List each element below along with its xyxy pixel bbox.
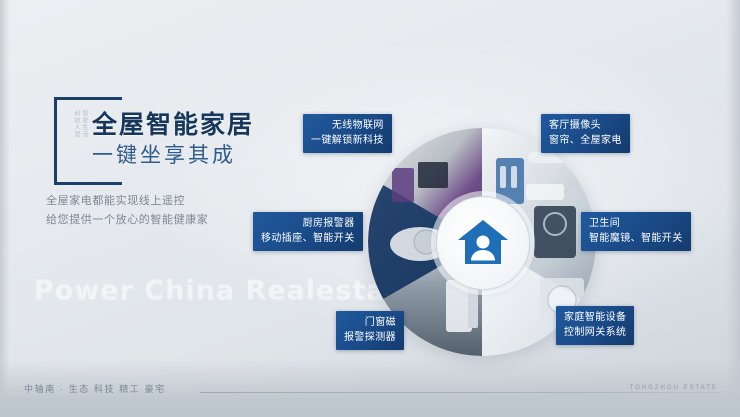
label-bathroom[interactable]: 卫生间 智能魔镜、智能开关 [581, 212, 691, 251]
label-door-window[interactable]: 门窗磁 报警探测器 [336, 311, 404, 350]
vertical-seal-text: 智能生活 科技人居 [72, 110, 88, 138]
page-title: 全屋智能家居 [92, 105, 254, 141]
label-kitchen-alarm-line2: 移动插座、智能开关 [261, 231, 355, 246]
label-wireless-iot-line1: 无线物联网 [311, 118, 384, 133]
home-user-icon [456, 218, 510, 268]
left-edge-shade [0, 0, 10, 417]
label-wireless-iot-line2: 一键解锁新科技 [311, 133, 384, 148]
description-line-2: 给您提供一个放心的智能健康家 [46, 211, 208, 230]
label-bathroom-line2: 智能魔镜、智能开关 [589, 231, 683, 246]
label-smart-gateway[interactable]: 家庭智能设备 控制网关系统 [556, 306, 634, 345]
watermark-text: Power China Realestate [34, 276, 419, 305]
right-edge-shade [726, 0, 740, 417]
remote-prop [526, 184, 564, 200]
footer-divider [200, 392, 720, 393]
hub-circle [436, 196, 530, 290]
slide-canvas: Power China Realestate 智能生活 科技人居 全屋智能家居 … [0, 0, 740, 417]
label-kitchen-alarm-line1: 厨房报警器 [261, 216, 355, 231]
label-smart-gateway-line2: 控制网关系统 [564, 325, 626, 340]
panel-prop [418, 162, 448, 188]
label-door-window-line1: 门窗磁 [344, 315, 396, 330]
label-bathroom-line1: 卫生间 [589, 216, 683, 231]
footer-brand-mark: TONGZHOU ESTATE [630, 385, 718, 391]
footer-tagline: 中轴南 · 生态 科技 精工 豪宅 [24, 382, 166, 395]
label-living-room[interactable]: 客厅摄像头 窗帘、全屋家电 [541, 114, 630, 153]
description-block: 全屋家电都能实现线上遥控 给您提供一个放心的智能健康家 [46, 192, 208, 230]
label-kitchen-alarm[interactable]: 厨房报警器 移动插座、智能开关 [253, 212, 363, 251]
label-door-window-line2: 报警探测器 [344, 330, 396, 345]
light-bar-prop [528, 152, 574, 163]
label-living-room-line1: 客厅摄像头 [549, 118, 622, 133]
description-line-1: 全屋家电都能实现线上遥控 [46, 192, 208, 211]
router-prop [392, 168, 414, 202]
label-living-room-line2: 窗帘、全屋家电 [549, 133, 622, 148]
label-smart-gateway-line1: 家庭智能设备 [564, 310, 626, 325]
label-wireless-iot[interactable]: 无线物联网 一键解锁新科技 [303, 114, 392, 153]
page-subtitle: 一键坐享其成 [92, 139, 236, 169]
